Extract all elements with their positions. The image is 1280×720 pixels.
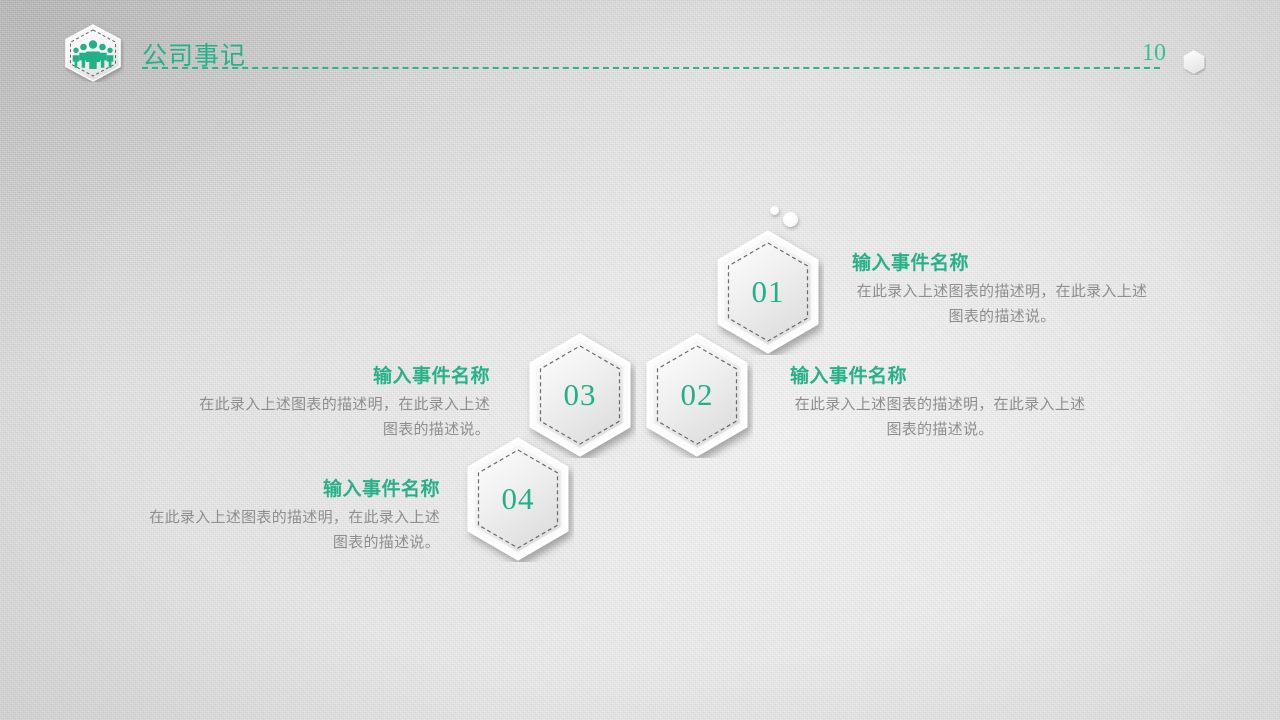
event-title: 输入事件名称 xyxy=(852,248,1152,275)
hexagon-icon xyxy=(462,436,574,562)
header-badge xyxy=(62,24,124,82)
corner-hexagon xyxy=(1182,49,1206,75)
page-title: 公司事记 xyxy=(142,36,246,72)
page-number: 10 xyxy=(1126,40,1166,67)
hex-02[interactable]: 02 xyxy=(641,332,753,458)
people-group-icon xyxy=(62,24,124,82)
hexagon-icon xyxy=(641,332,753,458)
text-block-event-03: 输入事件名称在此录入上述图表的描述明，在此录入上述图表的描述说。 xyxy=(190,361,490,442)
hex-04[interactable]: 04 xyxy=(462,436,574,562)
event-description: 在此录入上述图表的描述明，在此录入上述图表的描述说。 xyxy=(790,392,1090,442)
event-description: 在此录入上述图表的描述明，在此录入上述图表的描述说。 xyxy=(140,505,440,555)
event-description: 在此录入上述图表的描述明，在此录入上述图表的描述说。 xyxy=(852,279,1152,329)
text-block-event-01: 输入事件名称在此录入上述图表的描述明，在此录入上述图表的描述说。 xyxy=(852,248,1152,329)
bubble-large xyxy=(783,212,798,227)
bubble-small xyxy=(770,206,779,215)
slide-canvas: 公司事记 10 01020304 输入事件名称在此录入上述图表的描述明，在此录入… xyxy=(0,0,1280,720)
event-title: 输入事件名称 xyxy=(190,361,490,388)
header-divider xyxy=(142,67,1160,69)
text-block-event-02: 输入事件名称在此录入上述图表的描述明，在此录入上述图表的描述说。 xyxy=(790,361,1090,442)
event-description: 在此录入上述图表的描述明，在此录入上述图表的描述说。 xyxy=(190,392,490,442)
text-block-event-04: 输入事件名称在此录入上述图表的描述明，在此录入上述图表的描述说。 xyxy=(140,474,440,555)
event-title: 输入事件名称 xyxy=(790,361,1090,388)
event-title: 输入事件名称 xyxy=(140,474,440,501)
